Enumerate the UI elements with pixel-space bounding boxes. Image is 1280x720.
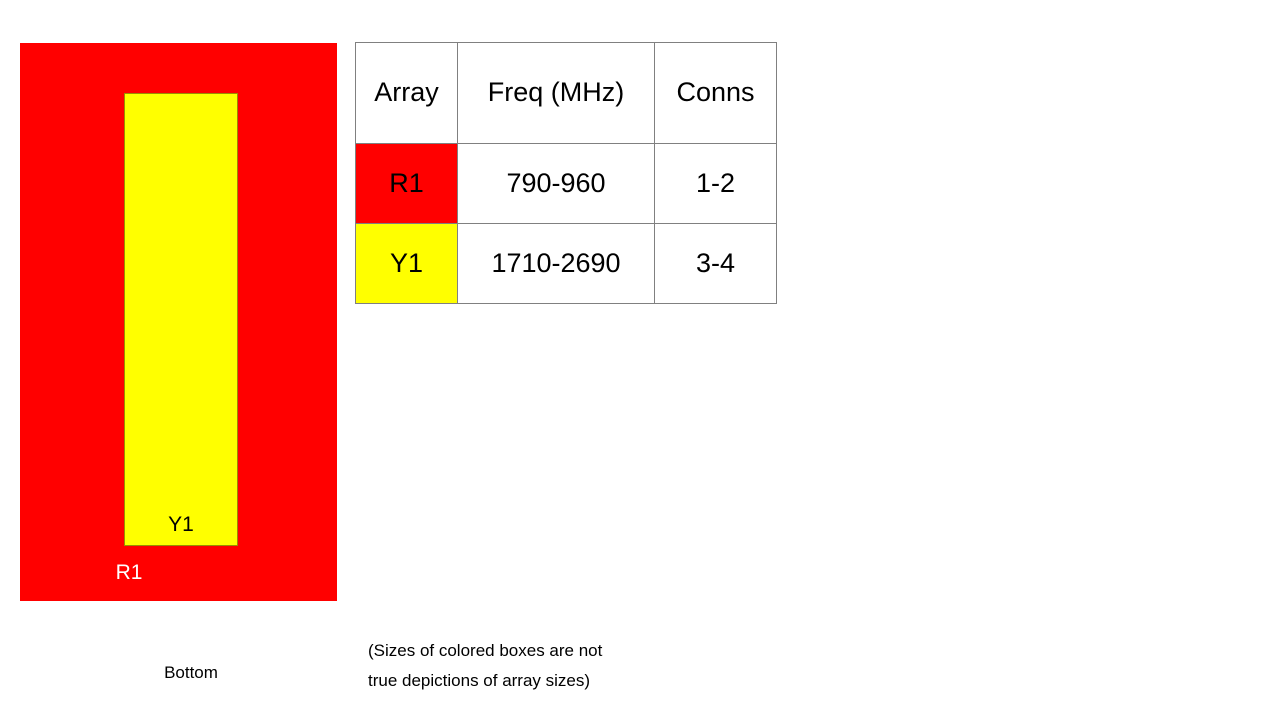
array-spec-table: Array Freq (MHz) Conns R1 790-960 1-2 Y1…	[355, 42, 777, 304]
array-diagram: Y1 R1 Bottom	[0, 0, 400, 720]
table-row: Y1 1710-2690 3-4	[356, 224, 777, 304]
column-header-freq: Freq (MHz)	[458, 43, 655, 144]
cell-array-r1: R1	[356, 144, 458, 224]
cell-conns-r1: 1-2	[655, 144, 777, 224]
cell-array-y1: Y1	[356, 224, 458, 304]
footnote-line-2: true depictions of array sizes)	[368, 666, 708, 696]
column-header-conns: Conns	[655, 43, 777, 144]
footnote: (Sizes of colored boxes are not true dep…	[368, 636, 708, 696]
outer-array-label: R1	[20, 562, 238, 583]
inner-array-label: Y1	[125, 514, 237, 535]
footnote-line-1: (Sizes of colored boxes are not	[368, 636, 708, 666]
table-header-row: Array Freq (MHz) Conns	[356, 43, 777, 144]
spec-table-container: Array Freq (MHz) Conns R1 790-960 1-2 Y1…	[355, 42, 777, 304]
table-body: R1 790-960 1-2 Y1 1710-2690 3-4	[356, 144, 777, 304]
bottom-orientation-label: Bottom	[152, 663, 230, 683]
outer-array-box-r1: Y1 R1	[20, 43, 337, 601]
cell-conns-y1: 3-4	[655, 224, 777, 304]
cell-freq-r1: 790-960	[458, 144, 655, 224]
column-header-array: Array	[356, 43, 458, 144]
table-row: R1 790-960 1-2	[356, 144, 777, 224]
cell-freq-y1: 1710-2690	[458, 224, 655, 304]
inner-array-box-y1: Y1	[124, 93, 238, 546]
table-header: Array Freq (MHz) Conns	[356, 43, 777, 144]
